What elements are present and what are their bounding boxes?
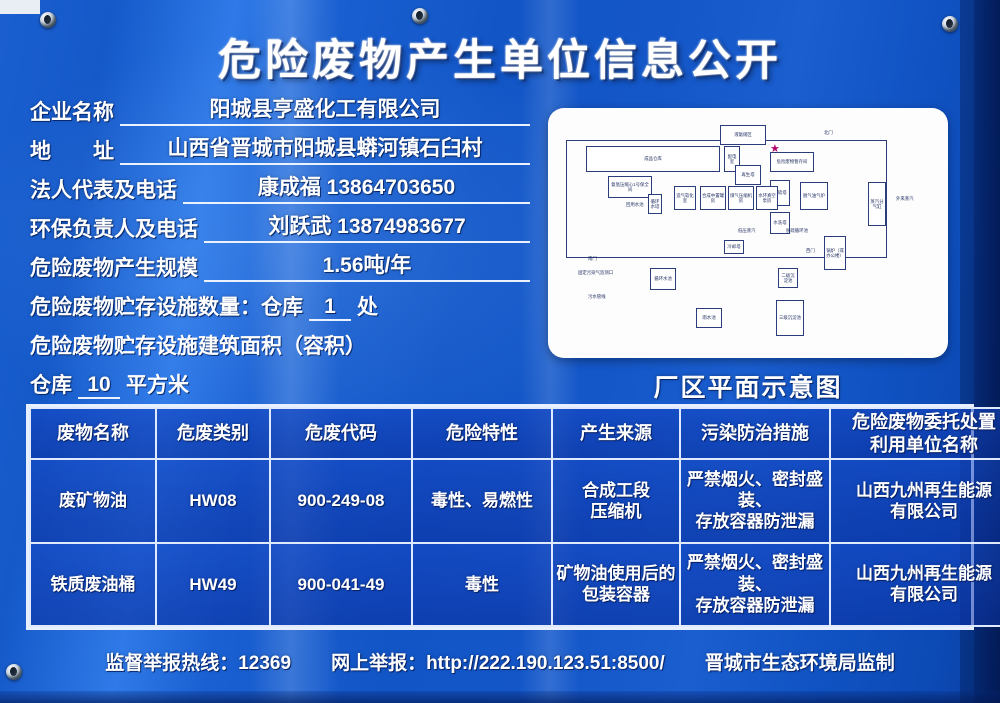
diagram-label: 低压蒸汽: [738, 228, 756, 234]
info-value: 康成福 13864703650: [183, 171, 530, 204]
diagram-box: 煤气压缩机房: [728, 186, 754, 210]
info-row-legal-rep: 法人代表及电话 康成福 13864703650: [30, 174, 530, 204]
information-disclosure-board: 危险废物产生单位信息公开 企业名称 阳城县亨盛化工有限公司 地 址 山西省晋城市…: [0, 0, 1000, 703]
diagram-box: 合成中置罐房: [700, 186, 726, 210]
info-row-storage-count: 危险废物贮存设施数量：仓库 1 处: [30, 291, 530, 321]
hazardous-waste-table: 废物名称危废类别危废代码危险特性产生来源污染防治措施危险废物委托处置利用单位名称…: [26, 404, 974, 630]
info-row-generation-scale: 危险废物产生规模 1.56吨/年: [30, 252, 530, 282]
diagram-box: 循环水塔: [648, 194, 662, 214]
diagram-label: 固定污染气监测口: [578, 270, 613, 276]
footer-hotline: 监督举报热线：12369: [105, 648, 291, 675]
table-header-cell: 废物名称: [30, 408, 156, 459]
diagram-label: 污水管线: [588, 294, 606, 300]
diagram-box: 再生塔: [735, 165, 761, 185]
footer-authority: 晋城市生态环境局监制: [705, 648, 895, 675]
info-value: 10: [78, 373, 120, 399]
table-cell: 毒性、易燃性: [412, 459, 552, 543]
info-unit: 处: [357, 291, 378, 321]
info-label: 法人代表及电话: [30, 174, 177, 204]
table-cell: 铁质废油桶: [30, 543, 156, 627]
table-cell: 合成工段压缩机: [552, 459, 680, 543]
diagram-box: 氨氢压缩心1号保全间: [608, 176, 652, 198]
table-header-cell: 危废类别: [156, 408, 270, 459]
info-label: 地 址: [30, 135, 114, 165]
info-label: 危险废物贮存设施建筑面积（容积）: [30, 330, 366, 360]
diagram-box: 冷却塔: [724, 240, 744, 254]
info-row-env-officer: 环保负责人及电话 刘跃武 13874983677: [30, 213, 530, 243]
mounting-bolt-icon: [412, 8, 428, 24]
table-cell: 900-041-49: [270, 543, 412, 627]
table-cell: 900-249-08: [270, 459, 412, 543]
info-value: 山西省晋城市阳城县蟒河镇石臼村: [120, 132, 530, 165]
diagram-label: 脱硫循环池: [786, 228, 808, 234]
table-body: 废矿物油HW08900-249-08毒性、易燃性合成工段压缩机严禁烟火、密封盛装…: [30, 459, 1000, 626]
diagram-box: 二级沉淀池: [778, 268, 798, 288]
diagram-box: 三级沉淀池: [776, 300, 804, 336]
diagram-box: 锅炉（或办公楼）: [824, 236, 846, 270]
table-cell: HW08: [156, 459, 270, 543]
diagram-label: 西门: [806, 248, 815, 254]
footer-online-report[interactable]: 网上举报：http://222.190.123.51:8500/: [331, 648, 665, 675]
table-cell: 严禁烟火、密封盛装、存放容器防泄漏: [680, 543, 830, 627]
table-cell: 矿物油使用后的包装容器: [552, 543, 680, 627]
diagram-box: 蒸汽分气缸: [868, 182, 886, 226]
info-row-company-name: 企业名称 阳城县亨盛化工有限公司: [30, 96, 530, 126]
info-label: 企业名称: [30, 96, 114, 126]
diagram-box: 成品仓库: [586, 146, 720, 172]
site-plan-diagram: ★ 液氨储区成品仓库配电室危险废物暂存间氨氢压缩心1号保全间再生塔脱硫塔循环水塔…: [548, 108, 948, 358]
diagram-caption: 厂区平面示意图: [548, 368, 948, 404]
table-row: 铁质废油桶HW49900-041-49毒性矿物油使用后的包装容器严禁烟火、密封盛…: [30, 543, 1000, 627]
table-cell: 严禁烟火、密封盛装、存放容器防泄漏: [680, 459, 830, 543]
diagram-box: 雨水池: [696, 308, 722, 328]
info-value: 1: [309, 295, 351, 321]
table-header-cell: 污染防治措施: [680, 408, 830, 459]
diagram-box: 液氨储区: [720, 125, 766, 145]
table-cell: 毒性: [412, 543, 552, 627]
info-value: 刘跃武 13874983677: [204, 210, 530, 243]
diagram-box: 危险废物暂存间: [770, 152, 814, 172]
table-cell: HW49: [156, 543, 270, 627]
table-header-cell: 危险特性: [412, 408, 552, 459]
company-info-block: 企业名称 阳城县亨盛化工有限公司 地 址 山西省晋城市阳城县蟒河镇石臼村 法人代…: [30, 96, 530, 408]
table-header-cell: 产生来源: [552, 408, 680, 459]
diagram-box: 水环真空泵房: [756, 186, 778, 210]
table-header-row: 废物名称危废类别危废代码危险特性产生来源污染防治措施危险废物委托处置利用单位名称: [30, 408, 1000, 459]
info-unit: 平方米: [126, 369, 189, 399]
site-plan-card: ★ 液氨储区成品仓库配电室危险废物暂存间氨氢压缩心1号保全间再生塔脱硫塔循环水塔…: [548, 108, 948, 358]
diagram-label: 北门: [824, 130, 833, 136]
diagram-box: 造气软化室: [674, 186, 696, 210]
info-label: 环保负责人及电话: [30, 213, 198, 243]
table-header-cell: 危险废物委托处置利用单位名称: [830, 408, 1000, 459]
table-cell: 废矿物油: [30, 459, 156, 543]
info-value: 1.56吨/年: [204, 249, 530, 282]
diagram-label: 回用水池: [626, 202, 644, 208]
info-label: 危险废物产生规模: [30, 252, 198, 282]
top-left-edge-strip: [0, 0, 40, 14]
table-header-cell: 危废代码: [270, 408, 412, 459]
table-cell: 山西九州再生能源有限公司: [830, 459, 1000, 543]
table-row: 废矿物油HW08900-249-08毒性、易燃性合成工段压缩机严禁烟火、密封盛装…: [30, 459, 1000, 543]
info-row-storage-area-label: 危险废物贮存设施建筑面积（容积）: [30, 330, 530, 360]
info-label: 危险废物贮存设施数量：仓库: [30, 291, 303, 321]
info-label: 仓库: [30, 369, 72, 399]
diagram-label: 外来蒸汽: [896, 196, 914, 202]
table-cell: 山西九州再生能源有限公司: [830, 543, 1000, 627]
diagram-label: 南门: [588, 256, 597, 262]
diagram-box: 循环水池: [650, 268, 676, 290]
bottom-edge-shadow: [0, 691, 1000, 703]
diagram-box: 脱气油气炉: [800, 182, 828, 210]
info-value: 阳城县亨盛化工有限公司: [120, 93, 530, 126]
footer-bar: 监督举报热线：12369 网上举报：http://222.190.123.51:…: [0, 648, 1000, 675]
page-title: 危险废物产生单位信息公开: [0, 26, 1000, 88]
info-row-address: 地 址 山西省晋城市阳城县蟒河镇石臼村: [30, 135, 530, 165]
info-row-warehouse-area: 仓库 10 平方米: [30, 369, 530, 399]
